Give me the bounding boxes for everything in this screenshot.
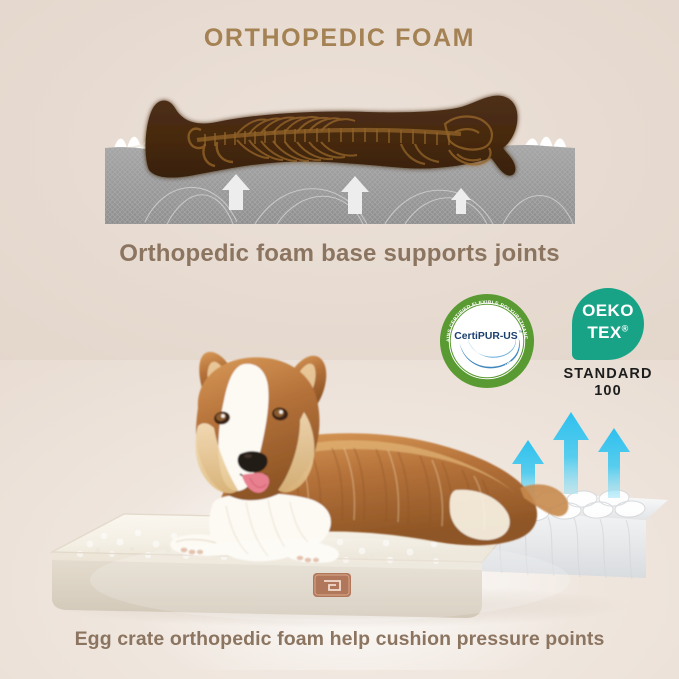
diagram-caption: Orthopedic foam base supports joints (0, 240, 679, 268)
foam-cross-section-diagram (105, 82, 575, 232)
dog-head (195, 352, 326, 500)
airflow-arrow (598, 428, 630, 498)
oeko-line1: OEKO (572, 302, 644, 319)
product-caption: Egg crate orthopedic foam help cushion p… (0, 628, 679, 651)
dog-photo (170, 352, 568, 563)
product-infographic: ORTHOPEDIC FOAM (0, 0, 679, 679)
product-photo-scene (0, 330, 679, 630)
page-title: ORTHOPEDIC FOAM (0, 24, 679, 53)
airflow-arrow (553, 412, 589, 494)
